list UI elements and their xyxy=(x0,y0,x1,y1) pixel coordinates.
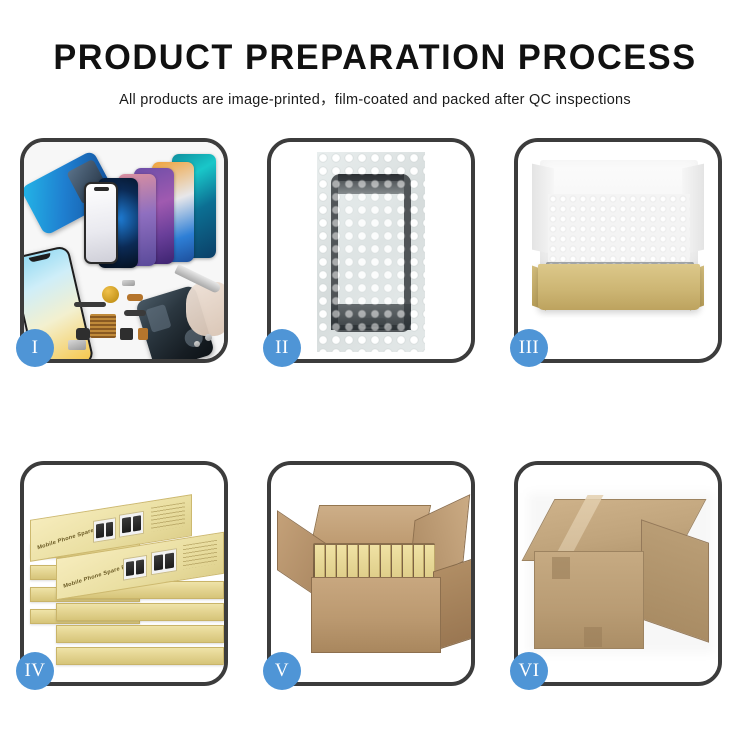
step-badge-3: III xyxy=(510,329,548,367)
speaker-part-icon xyxy=(102,286,119,303)
step-badge-4: IV xyxy=(16,652,54,690)
carton-corner-tab-icon xyxy=(552,557,570,579)
step-image-5 xyxy=(271,465,471,682)
process-step-card-1[interactable]: I xyxy=(20,138,228,363)
box-screen-art-2b xyxy=(151,548,177,575)
box-tray-front-icon xyxy=(538,264,700,310)
page-header: PRODUCT PREPARATION PROCESS All products… xyxy=(0,0,750,109)
bracket-part-icon xyxy=(122,280,135,286)
box-screen-art-1b xyxy=(119,511,144,538)
phone-white-frame-icon xyxy=(84,182,118,264)
connector-part-icon xyxy=(127,294,143,301)
box-spec-lines-2 xyxy=(183,540,217,569)
step-image-6 xyxy=(518,465,718,682)
step-image-3 xyxy=(518,142,718,359)
step-badge-6: VI xyxy=(510,652,548,690)
step-image-4: Mobile Phone Spare Parts Mobile Phone Sp… xyxy=(24,465,224,682)
carton-front-panel-icon xyxy=(311,577,441,653)
stacked-box xyxy=(56,647,224,665)
screen-bottom-bezel-icon xyxy=(331,304,411,330)
process-step-card-6[interactable]: VI xyxy=(514,461,722,686)
process-step-grid: I II III xyxy=(20,138,730,688)
camera-part-icon xyxy=(120,328,133,340)
sim-tray-part-icon xyxy=(68,340,86,350)
stacked-box xyxy=(56,625,224,643)
screw-part-icon xyxy=(205,334,212,341)
step-image-2 xyxy=(271,142,471,359)
step-badge-5: V xyxy=(263,652,301,690)
bubble-wrap-photo xyxy=(317,152,425,352)
page-title: PRODUCT PREPARATION PROCESS xyxy=(8,0,743,77)
foam-padding-icon xyxy=(548,194,690,266)
carton-bottom-tab-icon xyxy=(584,627,602,647)
stacked-box xyxy=(56,603,224,621)
chip-grid-part-icon xyxy=(90,314,116,338)
page-subtitle: All products are image-printed，film-coat… xyxy=(0,77,750,109)
process-step-card-5[interactable]: V xyxy=(267,461,475,686)
ribbon-part-icon xyxy=(124,310,146,316)
flex-cable-part-icon xyxy=(74,302,106,307)
button-part-icon xyxy=(76,328,90,340)
screw-part-icon xyxy=(194,341,200,347)
step-badge-1: I xyxy=(16,329,54,367)
box-spec-lines-1 xyxy=(151,502,185,531)
step-badge-2: II xyxy=(263,329,301,367)
process-step-card-2[interactable]: II xyxy=(267,138,475,363)
vibrator-part-icon xyxy=(138,328,148,340)
box-screen-art-2 xyxy=(123,555,147,581)
box-screen-art-1 xyxy=(93,517,116,543)
step-image-1 xyxy=(24,142,224,359)
process-step-card-3[interactable]: III xyxy=(514,138,722,363)
box-stack: Mobile Phone Spare Parts Mobile Phone Sp… xyxy=(30,489,224,665)
process-step-card-4[interactable]: Mobile Phone Spare Parts Mobile Phone Sp… xyxy=(20,461,228,686)
